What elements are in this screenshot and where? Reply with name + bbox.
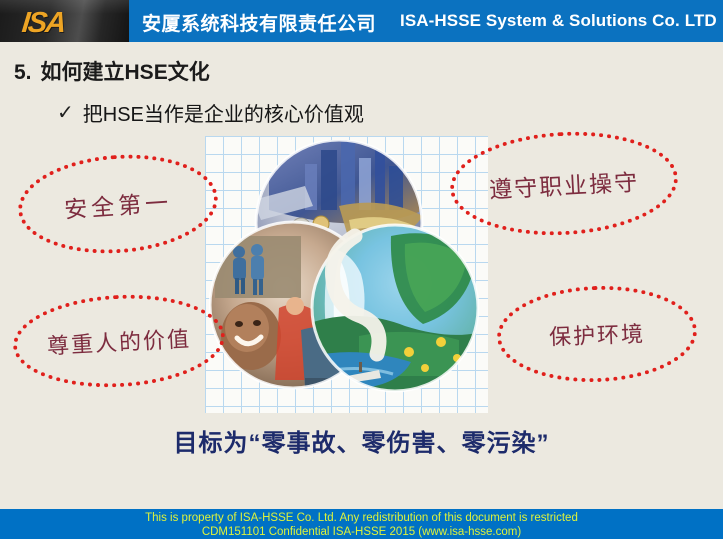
footer-bar: This is property of ISA-HSSE Co. Ltd. An… (0, 509, 723, 539)
footer-copyright-line: This is property of ISA-HSSE Co. Ltd. An… (0, 511, 723, 525)
company-name-en: ISA-HSSE System & Solutions Co. LTD (400, 11, 717, 31)
callout-respect-human-value: 尊重人的价值 (11, 290, 228, 393)
callout-safety-first-label: 安全第一 (63, 183, 173, 224)
header-bar: ISA 安厦系统科技有限责任公司 ISA-HSSE System & Solut… (0, 0, 723, 42)
callout-professional-ethics-label: 遵守职业操守 (488, 163, 640, 205)
page-title: 5.如何建立HSE文化 (14, 56, 210, 86)
venn-diagram-graphic (209, 140, 484, 410)
page-title-number: 5. (14, 61, 32, 84)
isa-logo-icon: ISA (20, 7, 66, 40)
bullet-item: ✓ 把HSE当作是企业的核心价值观 (57, 98, 364, 127)
goal-caption: 目标为“零事故、零伤害、零污染” (0, 423, 723, 458)
page-title-text: 如何建立HSE文化 (41, 61, 210, 84)
callout-protect-environment: 保护环境 (495, 283, 698, 386)
company-name-cn: 安厦系统科技有限责任公司 (142, 9, 376, 36)
callout-protect-environment-label: 保护环境 (548, 316, 645, 351)
slide-root: ISA 安厦系统科技有限责任公司 ISA-HSSE System & Solut… (0, 0, 723, 539)
checkmark-icon: ✓ (57, 103, 74, 123)
footer-confidential-line: CDM151101 Confidential ISA-HSSE 2015 (ww… (0, 525, 723, 539)
three-circles-sustainability-collage (205, 136, 488, 413)
callout-safety-first: 安全第一 (15, 148, 221, 260)
bullet-item-label: 把HSE当作是企业的核心价值观 (83, 98, 364, 127)
callout-respect-human-value-label: 尊重人的价值 (46, 321, 191, 360)
logo-panel: ISA (0, 0, 129, 42)
